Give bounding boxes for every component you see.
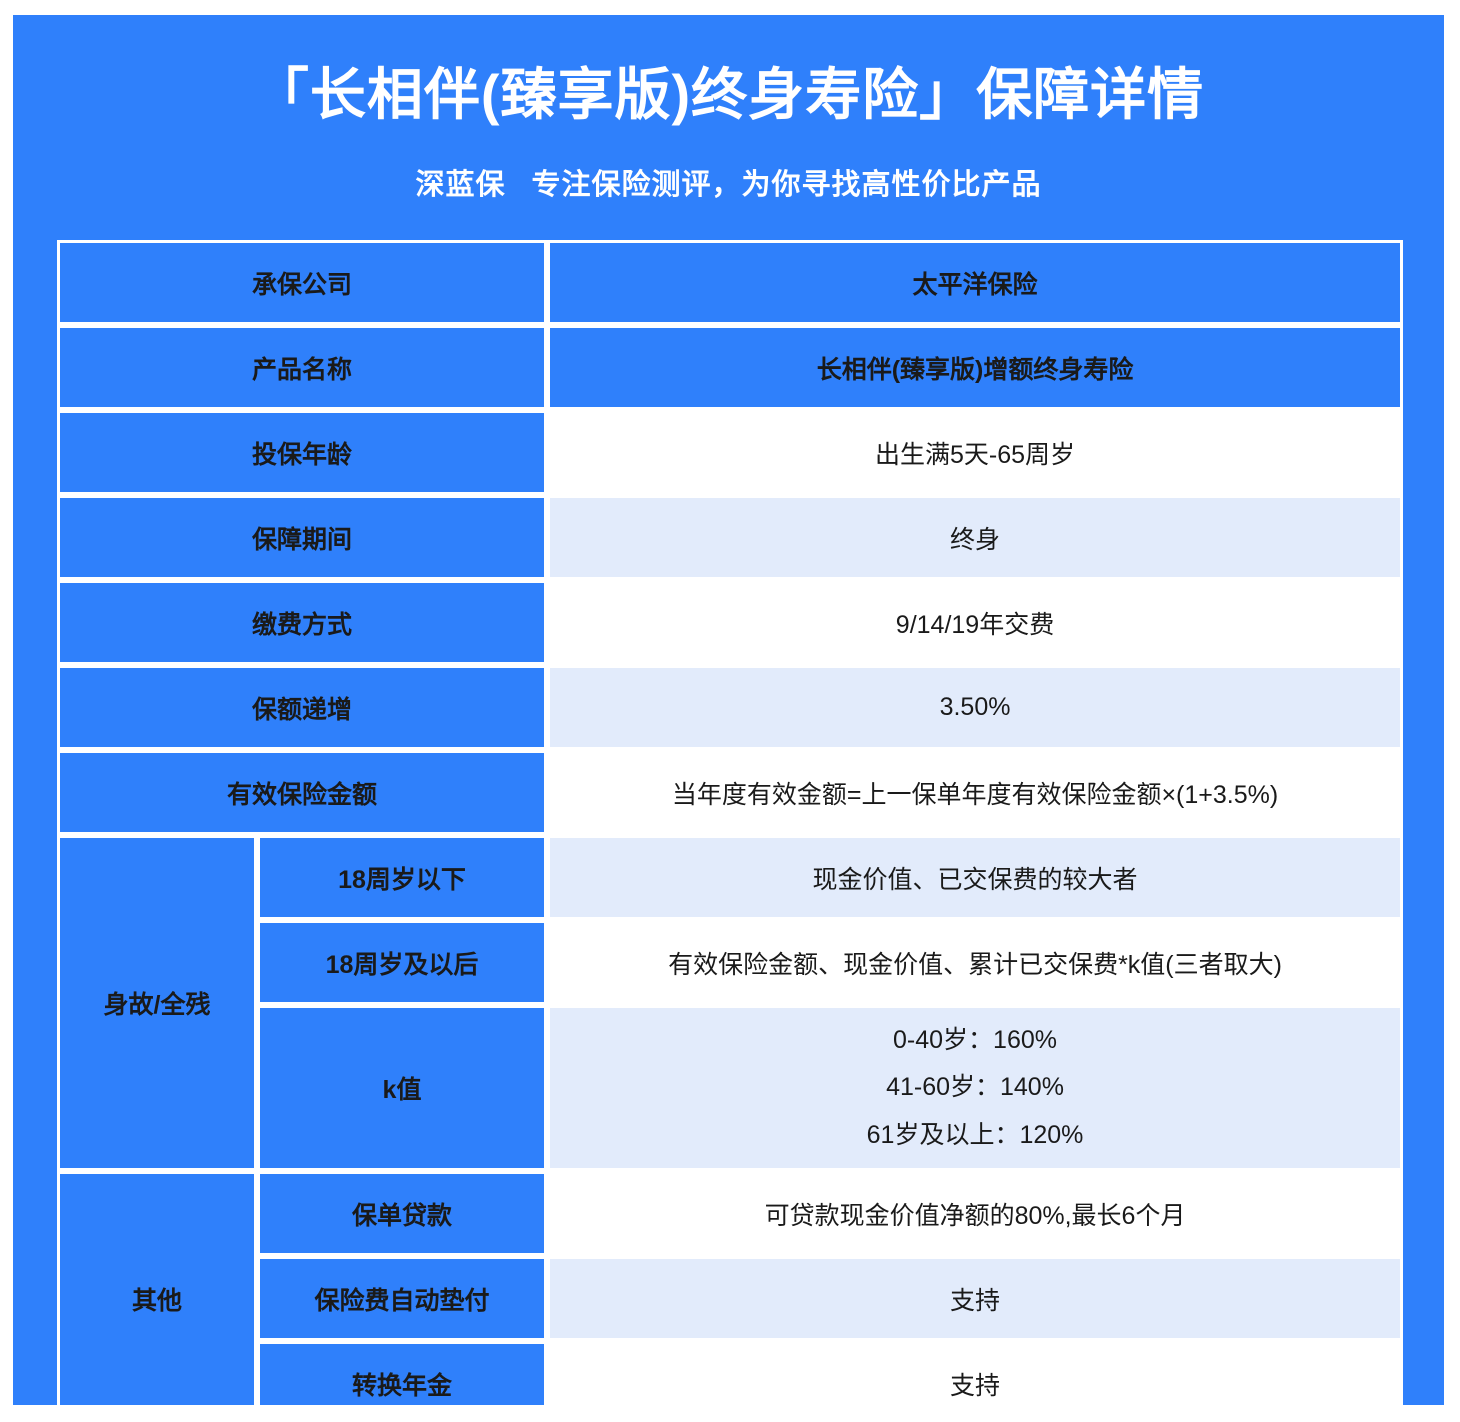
table-row: 保障期间 终身: [57, 495, 1403, 580]
table-row: 身故/全残 18周岁以下 现金价值、已交保费的较大者: [57, 835, 1403, 920]
row-label: 缴费方式: [57, 580, 547, 665]
sub-label: 保险费自动垫付: [257, 1256, 547, 1341]
table-row: 保额递增 3.50%: [57, 665, 1403, 750]
sub-label: 保单贷款: [257, 1171, 547, 1256]
row-value: 终身: [547, 495, 1403, 580]
table-row: 产品名称 长相伴(臻享版)增额终身寿险: [57, 325, 1403, 410]
row-label: 保额递增: [57, 665, 547, 750]
row-label: 保障期间: [57, 495, 547, 580]
table-row: 转换年金 支持: [57, 1341, 1403, 1405]
poster-panel: 「长相伴(臻享版)终身寿险」保障详情 深蓝保专注保险测评，为你寻找高性价比产品 …: [13, 15, 1444, 1405]
table-row: 保险费自动垫付 支持: [57, 1256, 1403, 1341]
table-row: 投保年龄 出生满5天-65周岁: [57, 410, 1403, 495]
row-value: 3.50%: [547, 665, 1403, 750]
row-value: 支持: [547, 1341, 1403, 1405]
page-title: 「长相伴(臻享版)终身寿险」保障详情: [13, 63, 1444, 127]
table-row: 18周岁及以后 有效保险金额、现金价值、累计已交保费*k值(三者取大): [57, 920, 1403, 1005]
row-label: 投保年龄: [57, 410, 547, 495]
table-row: k值 0-40岁：160% 41-60岁：140% 61岁及以上：120%: [57, 1005, 1403, 1171]
row-label: 承保公司: [57, 240, 547, 325]
kvalue-line: 41-60岁：140%: [558, 1064, 1392, 1112]
kvalue-line: 0-40岁：160%: [558, 1017, 1392, 1065]
row-value: 9/14/19年交费: [547, 580, 1403, 665]
brand-name: 深蓝保: [415, 169, 505, 201]
group-label-other: 其他: [57, 1171, 257, 1405]
row-label: 有效保险金额: [57, 750, 547, 835]
page-subtitle: 深蓝保专注保险测评，为你寻找高性价比产品: [13, 161, 1444, 203]
coverage-table-wrapper: 承保公司 太平洋保险 产品名称 长相伴(臻享版)增额终身寿险 投保年龄 出生满5…: [57, 240, 1403, 1405]
row-value: 有效保险金额、现金价值、累计已交保费*k值(三者取大): [547, 920, 1403, 1005]
slogan-text: 专注保险测评，为你寻找高性价比产品: [532, 169, 1042, 201]
kvalue-line: 61岁及以上：120%: [558, 1112, 1392, 1160]
row-value: 现金价值、已交保费的较大者: [547, 835, 1403, 920]
row-value: 当年度有效金额=上一保单年度有效保险金额×(1+3.5%): [547, 750, 1403, 835]
row-value: 支持: [547, 1256, 1403, 1341]
table-row: 承保公司 太平洋保险: [57, 240, 1403, 325]
row-label: 产品名称: [57, 325, 547, 410]
row-value: 可贷款现金价值净额的80%,最长6个月: [547, 1171, 1403, 1256]
sub-label: 转换年金: [257, 1341, 547, 1405]
row-value: 出生满5天-65周岁: [547, 410, 1403, 495]
row-value: 长相伴(臻享版)增额终身寿险: [547, 325, 1403, 410]
table-row: 缴费方式 9/14/19年交费: [57, 580, 1403, 665]
coverage-table: 承保公司 太平洋保险 产品名称 长相伴(臻享版)增额终身寿险 投保年龄 出生满5…: [57, 240, 1403, 1405]
table-row: 有效保险金额 当年度有效金额=上一保单年度有效保险金额×(1+3.5%): [57, 750, 1403, 835]
sub-label: 18周岁以下: [257, 835, 547, 920]
row-value-kvalue: 0-40岁：160% 41-60岁：140% 61岁及以上：120%: [547, 1005, 1403, 1171]
sub-label-kvalue: k值: [257, 1005, 547, 1171]
group-label-death: 身故/全残: [57, 835, 257, 1171]
sub-label: 18周岁及以后: [257, 920, 547, 1005]
table-row: 其他 保单贷款 可贷款现金价值净额的80%,最长6个月: [57, 1171, 1403, 1256]
row-value: 太平洋保险: [547, 240, 1403, 325]
